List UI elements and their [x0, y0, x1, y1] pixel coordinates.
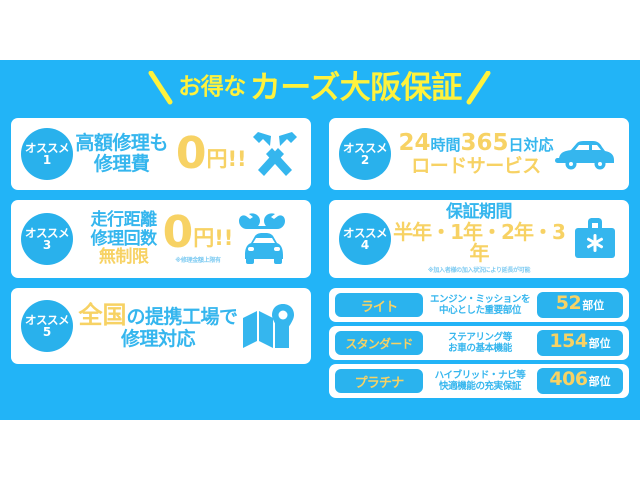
title-main-text: カーズ大阪保証 [250, 73, 462, 104]
plan-desc-line2: 快適機能の充実保証 [426, 381, 534, 392]
panel-3-body: 走行距離 修理回数 無制限 0 円!! ※修理金額上限有 [73, 200, 311, 278]
panel-3-price: 0 円!! [163, 214, 234, 251]
plan-name-pill: ライト [335, 293, 423, 317]
plan-desc-line2: お車の基本機能 [426, 343, 534, 354]
plan-desc-line1: ステアリング等 [426, 332, 534, 343]
wrench-and-car-icon [233, 213, 289, 265]
feature-panel-2: オススメ 2 24時間365日対応 ロードサービス [329, 118, 629, 190]
badge-number: 5 [43, 326, 51, 339]
panel-3-yen: 円!! [193, 222, 233, 252]
badge-label: オススメ [343, 227, 387, 239]
feature-panel-4: オススメ 4 保証期間 半年・1年・2年・3年 ※加入者様の加入状況により延長が… [329, 200, 629, 278]
panel-3-line3: 無制限 [91, 248, 157, 266]
title-small-text: お得な [178, 76, 246, 100]
badge-label: オススメ [343, 142, 387, 154]
plan-row-standard[interactable]: スタンダード ステアリング等 お車の基本機能 154 部位 [329, 326, 629, 360]
plan-name-pill: スタンダード [335, 331, 423, 355]
map-pin-icon [238, 304, 300, 348]
panel-1-text: 高額修理も 修理費 [75, 133, 168, 174]
plan-part-count: 52 部位 [537, 292, 623, 318]
panel-4-text: 保証期間 半年・1年・2年・3年 ※加入者様の加入状況により延長が可能 [391, 203, 567, 274]
panel-5-body: 全国の提携工場で 修理対応 [73, 288, 311, 364]
badge-label: オススメ [25, 314, 69, 326]
plan-count-unit: 部位 [589, 335, 611, 351]
plan-count-number: 52 [556, 292, 581, 314]
badge-number: 1 [43, 154, 51, 167]
panel-3-price-block: 0 円!! ※修理金額上限有 [163, 214, 234, 263]
panel-4-note: ※加入者様の加入状況により延長が可能 [391, 268, 567, 274]
plan-count-number: 406 [549, 368, 587, 390]
feature-panel-3: オススメ 3 走行距離 修理回数 無制限 0 円!! ※修理金額上限有 [11, 200, 311, 278]
panel-5-line1-yellow: 全国 [78, 301, 126, 329]
plan-desc-line2: 中心とした重要部位 [426, 305, 534, 316]
badge-number: 2 [361, 154, 369, 167]
panel-3-line1: 走行距離 [91, 211, 157, 229]
plan-count-unit: 部位 [582, 297, 604, 313]
badge-label: オススメ [25, 142, 69, 154]
panel-2-line2: ロードサービス [398, 156, 553, 177]
panel-5-line1-blue: の提携工場で [126, 306, 237, 328]
plan-desc-line1: エンジン・ミッションを [426, 294, 534, 305]
panel-4-line2: 半年・1年・2年・3年 [391, 222, 567, 265]
toolbox-icon [567, 218, 623, 260]
badge-label: オススメ [25, 227, 69, 239]
panel-5-text: 全国の提携工場で 修理対応 [78, 303, 237, 349]
panel-1-body: 高額修理も 修理費 0 円!! [73, 118, 311, 190]
panel-1-line2: 修理費 [75, 154, 168, 175]
recommend-badge-4: オススメ 4 [339, 213, 391, 265]
plan-row-light[interactable]: ライト エンジン・ミッションを 中心とした重要部位 52 部位 [329, 288, 629, 322]
panel-3-line2: 修理回数 [91, 230, 157, 248]
plan-row-platinum[interactable]: プラチナ ハイブリッド・ナビ等 快適機能の充実保証 406 部位 [329, 364, 629, 398]
feature-panel-5: オススメ 5 全国の提携工場で 修理対応 [11, 288, 311, 364]
recommend-badge-3: オススメ 3 [21, 213, 73, 265]
panel-2-days-unit: 日対応 [509, 136, 554, 154]
panel-1-yen: 円!! [206, 143, 246, 173]
plan-list: ライト エンジン・ミッションを 中心とした重要部位 52 部位 スタンダード ス… [329, 288, 629, 402]
panel-2-text: 24時間365日対応 ロードサービス [398, 131, 553, 176]
panel-3-text: 走行距離 修理回数 無制限 [91, 211, 157, 266]
poster-title: お得な カーズ大阪保証 [0, 64, 640, 112]
recommend-badge-5: オススメ 5 [21, 300, 73, 352]
badge-number: 3 [43, 239, 51, 252]
recommend-badge-2: オススメ 2 [339, 128, 391, 180]
diagonal-slash-left-icon [148, 71, 174, 105]
plan-name-pill: プラチナ [335, 369, 423, 393]
panel-3-zero: 0 [163, 214, 194, 251]
feature-panel-1: オススメ 1 高額修理も 修理費 0 円!! [11, 118, 311, 190]
badge-number: 4 [361, 239, 369, 252]
panel-2-hours: 24 [398, 130, 430, 156]
panel-2-days: 365 [461, 130, 509, 156]
panel-5-line1: 全国の提携工場で [78, 303, 237, 329]
panel-4-body: 保証期間 半年・1年・2年・3年 ※加入者様の加入状況により延長が可能 [391, 200, 629, 278]
crossed-hammers-icon [247, 132, 303, 176]
plan-description: ハイブリッド・ナビ等 快適機能の充実保証 [423, 370, 537, 393]
panel-1-price: 0 円!! [176, 135, 247, 172]
plan-desc-line1: ハイブリッド・ナビ等 [426, 370, 534, 381]
car-side-icon [554, 138, 616, 170]
panel-2-hours-unit: 時間 [430, 136, 460, 154]
panel-1-zero: 0 [176, 135, 207, 172]
recommend-badge-1: オススメ 1 [21, 128, 73, 180]
warranty-poster: お得な カーズ大阪保証 オススメ 1 高額修理も 修理費 0 円!! [0, 0, 640, 480]
plan-count-number: 154 [549, 330, 587, 352]
diagonal-slash-right-icon [466, 71, 492, 105]
panel-1-line1: 高額修理も [75, 133, 168, 154]
plan-description: ステアリング等 お車の基本機能 [423, 332, 537, 355]
plan-part-count: 154 部位 [537, 330, 623, 356]
plan-count-unit: 部位 [589, 373, 611, 389]
plan-part-count: 406 部位 [537, 368, 623, 394]
panel-2-body: 24時間365日対応 ロードサービス [391, 118, 629, 190]
plan-description: エンジン・ミッションを 中心とした重要部位 [423, 294, 537, 317]
panel-2-line1: 24時間365日対応 [398, 131, 553, 156]
panel-5-line2: 修理対応 [78, 329, 237, 350]
